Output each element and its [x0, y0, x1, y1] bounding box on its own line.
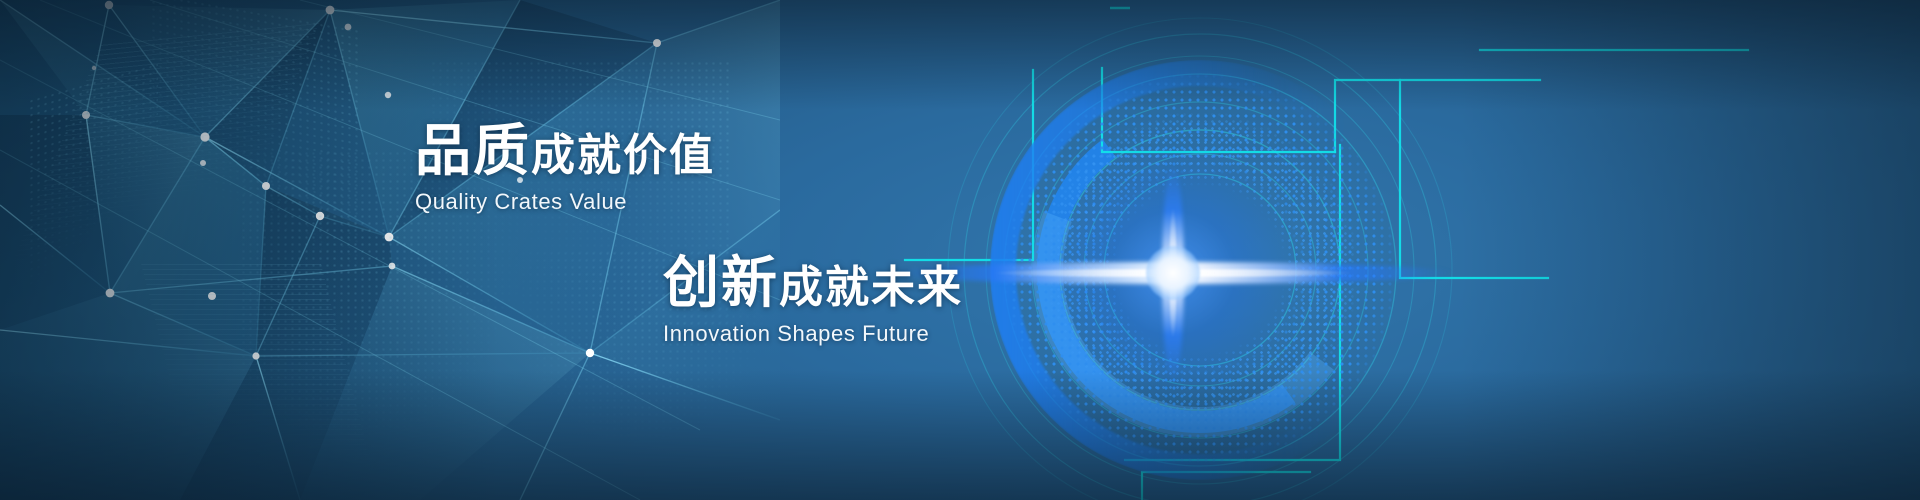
hero-banner: 品质成就价值 Quality Crates Value 创新成就未来 Innov…	[0, 0, 1920, 500]
headline-quality: 品质成就价值	[415, 120, 715, 183]
headline-quality-lead: 品质	[415, 119, 531, 182]
slogan-block-quality: 品质成就价值 Quality Crates Value	[415, 120, 715, 215]
headline-innovation: 创新成就未来	[663, 252, 963, 315]
background-vignette	[0, 0, 1920, 500]
headline-quality-tail: 成就价值	[531, 131, 715, 180]
subline-innovation: Innovation Shapes Future	[663, 321, 963, 347]
headline-innovation-tail: 成就未来	[779, 263, 963, 312]
slogan-block-innovation: 创新成就未来 Innovation Shapes Future	[663, 252, 963, 347]
headline-innovation-lead: 创新	[663, 251, 779, 314]
subline-quality: Quality Crates Value	[415, 189, 715, 215]
